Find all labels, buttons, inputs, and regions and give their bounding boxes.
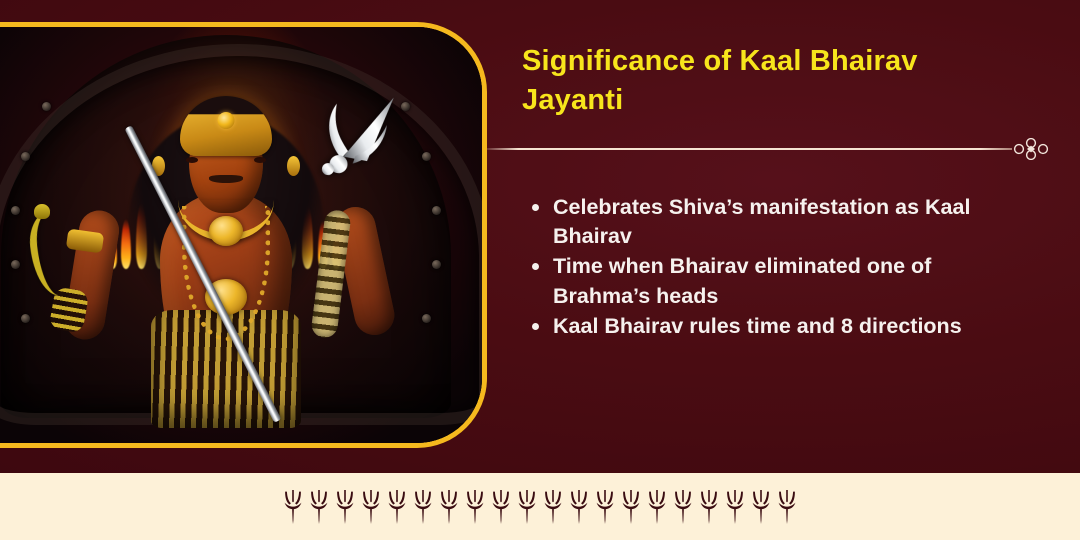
trishul-glyph-icon	[335, 490, 355, 524]
trishul-glyph-icon	[777, 490, 797, 524]
divider-line	[487, 148, 1012, 150]
trishul-glyph-icon	[569, 490, 589, 524]
footer-strip	[0, 473, 1080, 540]
trishul-glyph-icon	[725, 490, 745, 524]
trishul-glyph-icon	[647, 490, 667, 524]
trishul-glyph-icon	[751, 490, 771, 524]
trishul-head-icon	[287, 80, 408, 203]
slide-canvas: Significance of Kaal Bhairav Jayanti Cel…	[0, 0, 1080, 540]
cobra-hood	[34, 204, 50, 219]
right-eye	[254, 157, 266, 163]
trishul-glyph-icon	[673, 490, 693, 524]
trishul-glyph-icon	[491, 490, 511, 524]
left-eye	[186, 157, 198, 163]
image-gold-frame	[0, 22, 487, 448]
cobra-snake	[27, 208, 77, 298]
list-item: Celebrates Shiva’s manifestation as Kaal…	[519, 193, 1029, 251]
trishul-glyph-icon	[517, 490, 537, 524]
trishul-glyph-icon	[595, 490, 615, 524]
title-divider	[487, 138, 1053, 160]
moustache	[209, 175, 243, 183]
deity-image-panel	[0, 22, 487, 448]
trishul-glyph-icon	[387, 490, 407, 524]
list-item: Kaal Bhairav rules time and 8 directions	[519, 312, 1029, 341]
slide-title: Significance of Kaal Bhairav Jayanti	[522, 42, 992, 119]
trishul-glyph-icon	[361, 490, 381, 524]
trishul-glyph-icon	[283, 490, 303, 524]
trishul-glyph-icon	[621, 490, 641, 524]
text-content-column: Significance of Kaal Bhairav Jayanti Cel…	[513, 0, 1053, 473]
kaal-bhairav-figure	[0, 27, 482, 443]
trishul-glyph-icon	[543, 490, 563, 524]
trident-ornament-row	[283, 490, 797, 524]
crown-gem	[218, 112, 235, 129]
knot-ornament-icon	[1009, 138, 1053, 160]
list-item: Time when Bhairav eliminated one of Brah…	[519, 252, 1029, 310]
trishul-glyph-icon	[699, 490, 719, 524]
trishul-glyph-icon	[439, 490, 459, 524]
trishul-glyph-icon	[465, 490, 485, 524]
trishul-glyph-icon	[309, 490, 329, 524]
deity-photo	[0, 27, 482, 443]
trishul-glyph-icon	[413, 490, 433, 524]
bullet-list: Celebrates Shiva’s manifestation as Kaal…	[519, 193, 1029, 342]
